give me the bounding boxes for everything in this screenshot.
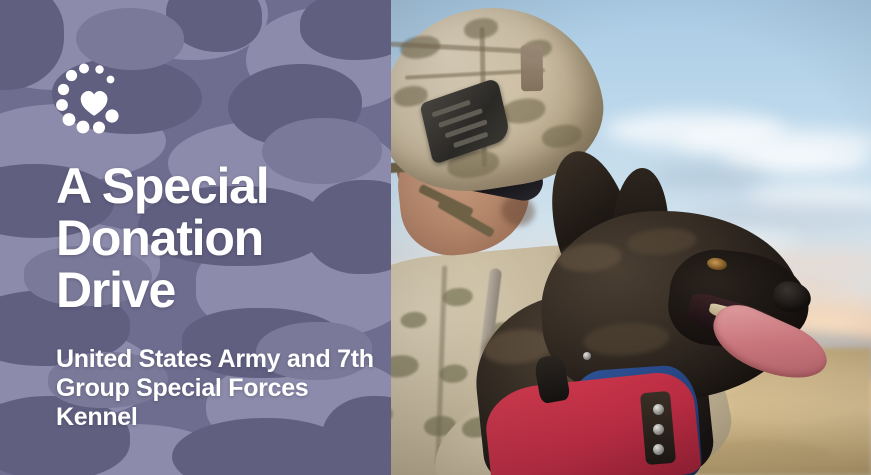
page-subtitle: United States Army and 7th Group Special…	[56, 345, 386, 432]
paw-heart-circle-logo	[52, 58, 142, 144]
vest-rivet	[653, 404, 664, 415]
vest-stud	[583, 352, 591, 360]
grass-tuft	[731, 396, 841, 424]
soldier-and-dog-photo	[391, 0, 871, 475]
vest-rivet	[653, 424, 664, 435]
helmet-rail-mount	[420, 77, 512, 164]
donation-drive-banner: A Special Donation Drive United States A…	[0, 0, 871, 475]
camo-text-panel: A Special Donation Drive United States A…	[0, 0, 391, 475]
helmet-velcro-tab	[520, 45, 543, 91]
vest-rivet	[653, 444, 664, 455]
cloud	[649, 166, 769, 188]
page-title: A Special Donation Drive	[56, 160, 386, 316]
